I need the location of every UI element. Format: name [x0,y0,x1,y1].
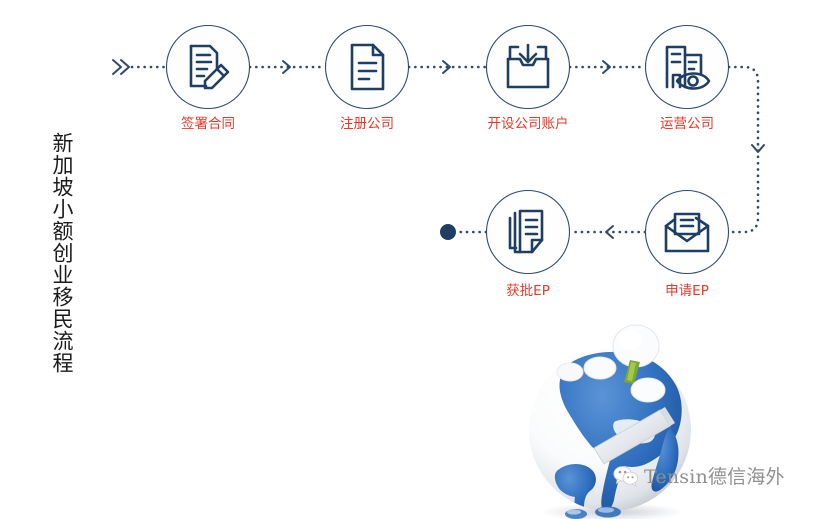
step-circle-5[interactable] [487,191,570,274]
flow-end-dot-icon [440,224,456,240]
step-circle-2[interactable] [326,26,409,109]
connector-right-curve [729,67,764,232]
step-label-6: 申请EP [665,283,709,299]
step-label-1: 签署合同 [181,116,235,132]
step-circle-4[interactable] [646,26,729,109]
step-circle-3[interactable] [487,26,570,109]
step-circle-1[interactable] [167,26,250,109]
flow-start-chevron-icon [113,60,129,74]
step-label-3: 开设公司账户 [488,116,569,132]
step-label-2: 注册公司 [340,116,394,132]
watermark: Tensin德信海外 [613,462,785,489]
step-label-5: 获批EP [506,283,550,299]
wechat-icon [613,465,639,487]
step-circle-6[interactable] [646,191,729,274]
step-label-4: 运营公司 [660,116,714,132]
watermark-text: Tensin德信海外 [644,462,785,489]
flow-diagram-page: 新加坡小额创业移民流程 .circ { fill:#fefefe; stroke… [0,0,820,519]
